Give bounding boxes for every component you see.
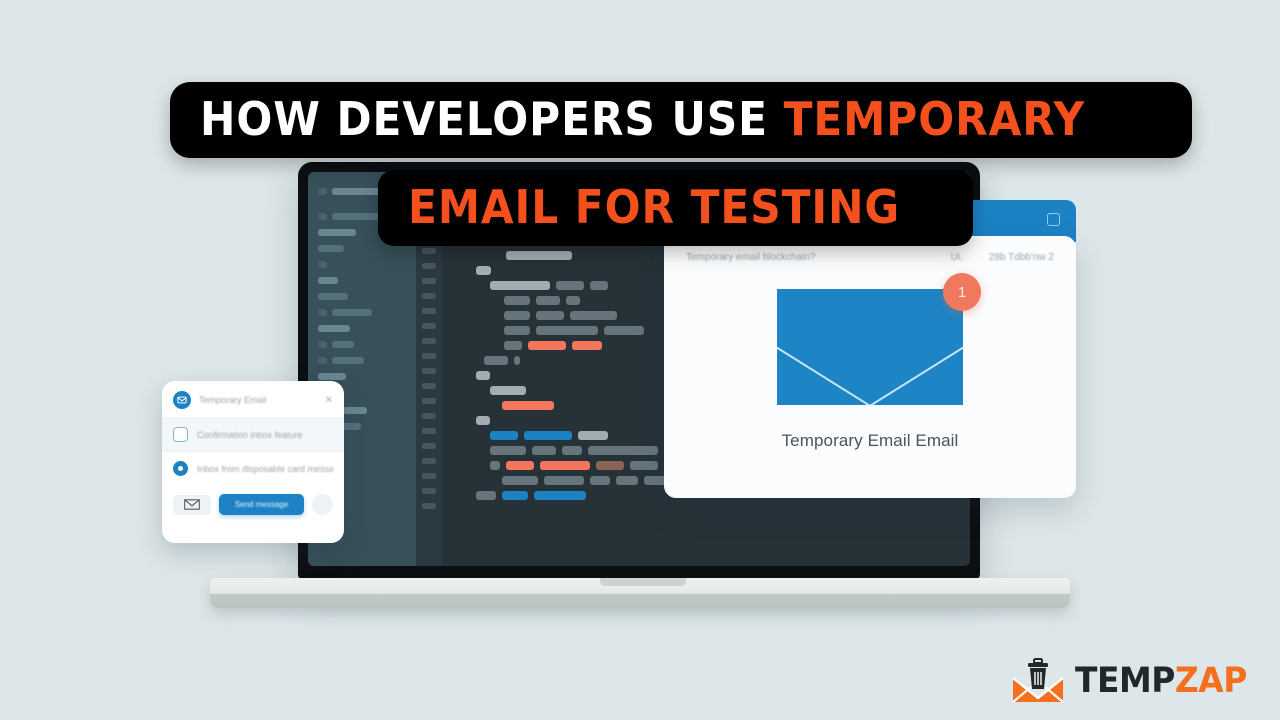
folder-icon [318,309,327,316]
popup-option-radio-label: Inbox from disposable card message [197,464,333,474]
file-name-placeholder [318,293,348,300]
file-name-placeholder [332,213,384,220]
brand-wordmark: TEMPZAP [1075,664,1247,699]
code-token [490,461,500,470]
file-tree-row[interactable] [318,325,406,332]
window-icon [1047,213,1060,226]
line-number-placeholder [422,368,436,374]
folder-icon [318,261,327,268]
code-token [540,461,590,470]
line-number-placeholder [422,488,436,494]
line-number-placeholder [422,278,436,284]
file-tree-row[interactable] [318,245,406,252]
file-tree-row[interactable] [318,341,406,348]
popup-title: Temporary Email [199,395,267,405]
file-name-placeholder [318,277,338,284]
code-token [506,251,572,260]
code-token [528,341,566,350]
code-token [490,386,526,395]
file-tree-row[interactable] [318,277,406,284]
close-icon[interactable]: ✕ [325,395,333,406]
code-token [514,356,520,365]
radio-icon[interactable] [173,461,188,476]
code-token [536,296,560,305]
code-token [476,491,496,500]
headline-band-2: EMAIL FOR TESTING [378,170,973,246]
code-token [476,266,491,275]
code-token [556,281,584,290]
line-number-placeholder [422,443,436,449]
send-message-label: Send message [235,500,288,509]
line-number-placeholder [422,398,436,404]
line-number-placeholder [422,503,436,509]
code-token [572,341,602,350]
code-token [630,461,658,470]
line-number-placeholder [422,383,436,389]
code-token [490,431,518,440]
unread-count-badge: 1 [943,273,981,311]
popup-option-checkbox-row[interactable]: Confirmation inbox feature [162,417,344,451]
brand-name-dark: TEMP [1075,661,1175,701]
envelope-icon-button[interactable] [173,495,211,515]
code-token [506,461,534,470]
code-token [490,281,550,290]
code-token [502,401,554,410]
code-token [502,491,528,500]
code-token [484,356,508,365]
line-number-placeholder [422,353,436,359]
more-actions-button[interactable] [312,494,333,515]
line-number-placeholder [422,308,436,314]
file-tree-row[interactable] [318,309,406,316]
line-number-placeholder [422,263,436,269]
code-token [490,446,526,455]
brand-name-accent: ZAP [1175,661,1247,701]
code-token [502,476,538,485]
file-name-placeholder [318,229,356,236]
line-number-placeholder [422,428,436,434]
headline-line-1-accent: TEMPORARY [784,92,1085,146]
file-tree-row[interactable] [318,261,406,268]
file-tree-row[interactable] [318,357,406,364]
mail-card-caption: Temporary Email Email [782,431,959,451]
line-number-placeholder [422,323,436,329]
popup-option-radio-row[interactable]: Inbox from disposable card message [162,451,344,485]
mail-header-right-text: 28b Tdbb'nw 2 [989,252,1054,263]
mail-header-left-text: Temporary email blockchain? [686,252,816,263]
popup-action-bar: Send message [162,485,344,526]
line-number-placeholder [422,293,436,299]
code-token [566,296,580,305]
headline-line-1-white: HOW DEVELOPERS USE [200,92,784,146]
code-token [588,446,658,455]
code-token [570,311,617,320]
line-number-placeholder [422,473,436,479]
code-token [536,326,598,335]
file-name-placeholder [332,341,354,348]
code-token [476,416,490,425]
code-token [504,311,530,320]
folder-icon [318,188,327,195]
file-name-placeholder [318,245,344,252]
line-number-placeholder [422,413,436,419]
line-number-placeholder [422,458,436,464]
line-number-placeholder [422,248,436,254]
send-message-button[interactable]: Send message [219,494,304,515]
headline-band-1: HOW DEVELOPERS USE TEMPORARY [170,82,1192,158]
headline-line-2: EMAIL FOR TESTING [408,184,900,230]
mail-header-right-small: Ui. [951,252,963,263]
folder-icon [318,357,327,364]
code-token [534,491,586,500]
laptop-hinge-notch [600,578,686,586]
code-token [476,371,490,380]
inbox-popup-card[interactable]: Temporary Email ✕ Confirmation inbox fea… [162,381,344,543]
popup-option-checkbox-label: Confirmation inbox feature [197,430,303,440]
code-token [578,431,608,440]
code-token [604,326,644,335]
code-token [616,476,638,485]
mail-avatar-icon [173,391,191,409]
code-token [504,341,522,350]
brand-logo[interactable]: TEMPZAP [1010,658,1258,704]
line-number-placeholder [422,338,436,344]
popup-header: Temporary Email ✕ [162,381,344,417]
file-name-placeholder [332,309,372,316]
envelope-illustration: 1 [777,289,963,405]
code-token [532,446,556,455]
code-token [544,476,584,485]
folder-icon [318,341,327,348]
headline-line-1: HOW DEVELOPERS USE TEMPORARY [200,96,1085,142]
checkbox-icon[interactable] [173,427,188,442]
file-tree-row[interactable] [318,293,406,300]
code-token [524,431,572,440]
file-tree-row[interactable] [318,373,406,380]
file-name-placeholder [318,325,350,332]
file-name-placeholder [343,407,367,414]
code-token [596,461,624,470]
code-token [590,281,608,290]
file-name-placeholder [318,373,346,380]
headline-line-2-accent: EMAIL FOR TESTING [408,180,900,234]
temporary-email-card[interactable]: Temporary email blockchain? Ui. 28b Tdbb… [664,236,1076,498]
mail-card-body: 1 Temporary Email Email [664,263,1076,451]
envelope-icon [777,289,963,405]
code-token [536,311,564,320]
trash-envelope-icon [1010,658,1066,704]
code-token [562,446,582,455]
code-token [590,476,610,485]
code-token [504,296,530,305]
file-name-placeholder [332,357,364,364]
folder-icon [318,213,327,220]
code-token [504,326,530,335]
hero-canvas: Temporary Email ✕ Confirmation inbox fea… [0,0,1280,720]
